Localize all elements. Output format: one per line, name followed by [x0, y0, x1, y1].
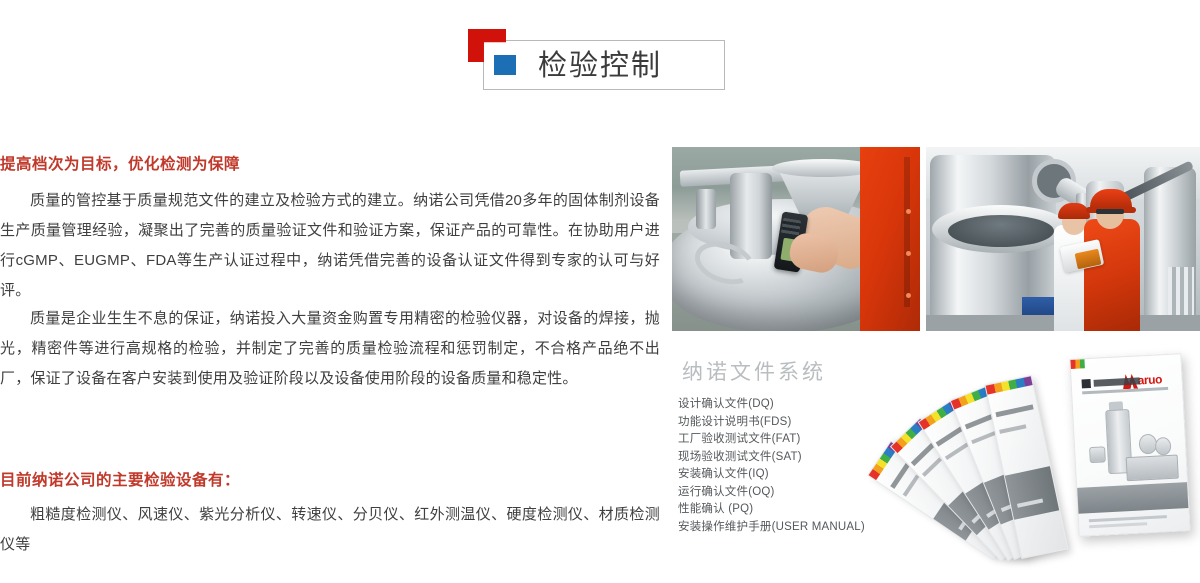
photo-b-worker-uniform — [1084, 219, 1140, 331]
illustration-vessel-2 — [1155, 437, 1172, 456]
cover-gray-band — [1077, 482, 1188, 514]
page-title: 检验控制 — [538, 44, 728, 88]
paragraph-quality-control: 质量的管控基于质量规范文件的建立及检验方式的建立。纳诺公司凭借20多年的固体制剂… — [0, 186, 660, 306]
photo-a-valve — [696, 189, 716, 229]
binder-spine-band — [1005, 466, 1060, 520]
cover-headline-square — [1082, 379, 1091, 388]
binder-label — [995, 405, 1034, 418]
binder-subtitle — [903, 474, 920, 496]
photo-b-tank-interior — [948, 215, 1054, 247]
photo-a-device-keypad — [781, 218, 801, 237]
cover-rainbow-stripe — [1070, 359, 1084, 369]
photo-strip — [672, 147, 1200, 331]
page-root: 检验控制 提高档次为目标，优化检测为保障 质量的管控基于质量规范文件的建立及检验… — [0, 0, 1200, 583]
section-heading-quality: 提高档次为目标，优化检测为保障 — [0, 154, 240, 176]
paragraph-inspection-instruments: 质量是企业生生不息的保证，纳诺投入大量资金购置专用精密的检验仪器，对设备的焊接，… — [0, 304, 660, 394]
binder-subtitle — [971, 431, 997, 445]
photo-a-uniform-button — [906, 293, 911, 298]
page-header: 检验控制 — [0, 0, 1200, 130]
naruo-logo-text: aruo — [1137, 372, 1162, 387]
binder-subtitle — [999, 424, 1027, 434]
paragraph-equipment-list: 粗糙度检测仪、风速仪、紫光分析仪、转速仪、分贝仪、红外测温仪、硬度检测仪、材质检… — [0, 500, 660, 560]
brochure-cover: aruo — [1069, 353, 1190, 537]
cover-headline-text — [1094, 377, 1140, 386]
photo-b-safety-glasses — [1096, 209, 1124, 214]
brand-logo-icon — [468, 29, 514, 73]
logo-blue-square — [494, 55, 516, 75]
binder-code — [1017, 499, 1043, 508]
cover-equipment-illustration — [1083, 407, 1179, 484]
cover-footer-line-2 — [1089, 522, 1147, 528]
cover-footer-line-1 — [1089, 515, 1167, 522]
left-content-column: 提高档次为目标，优化检测为保障 质量的管控基于质量规范文件的建立及检验方式的建立… — [0, 140, 668, 583]
document-system-title: 纳诺文件系统 — [682, 356, 826, 386]
brochure-fan: aruo — [858, 340, 1198, 570]
photo-worker-measuring-vessel — [672, 147, 920, 331]
illustration-unit-left — [1089, 446, 1106, 463]
photo-a-uniform-button — [906, 209, 911, 214]
document-system-panel: 纳诺文件系统 设计确认文件(DQ) 功能设计说明书(FDS) 工厂验收测试文件(… — [668, 338, 1200, 583]
binder-subtitle — [922, 457, 942, 477]
photo-a-uniform-fold — [904, 157, 910, 307]
section-heading-equipment: 目前纳诺公司的主要检验设备有： — [0, 470, 240, 492]
binder-rainbow-stripe — [986, 376, 1033, 394]
photo-a-uniform-button — [906, 251, 911, 256]
illustration-base-frame — [1126, 455, 1179, 482]
photo-workers-inspecting — [926, 147, 1200, 331]
binder-subtitle — [945, 442, 968, 459]
photo-a-worker-uniform — [860, 147, 920, 331]
